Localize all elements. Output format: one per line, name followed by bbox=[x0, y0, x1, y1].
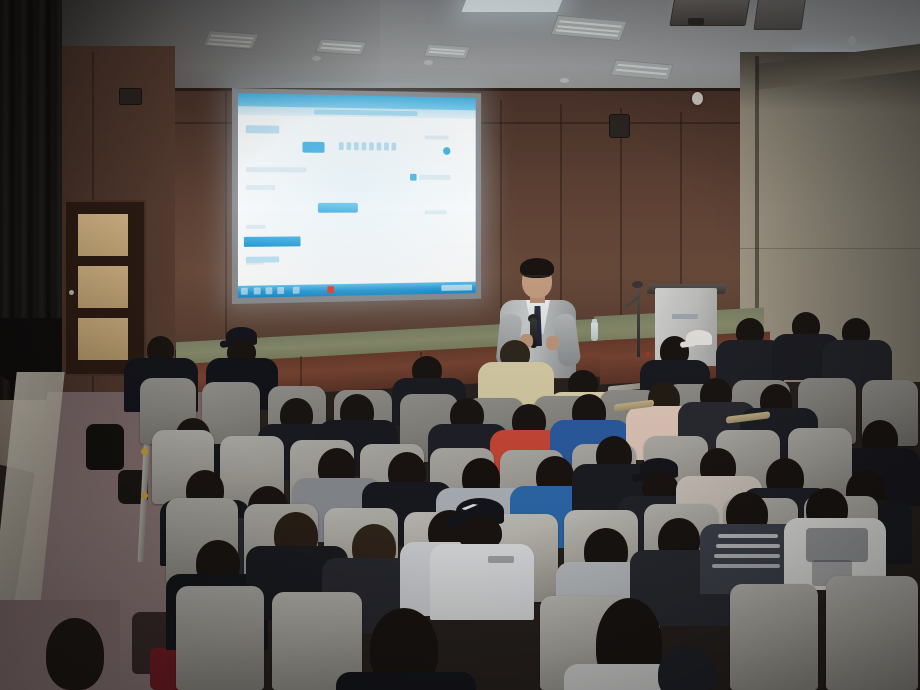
app-content-area bbox=[238, 115, 476, 286]
audience-member-torso bbox=[430, 544, 534, 620]
water-bottle-cap bbox=[592, 319, 597, 323]
start-button-icon[interactable] bbox=[241, 288, 248, 295]
shirt-graphic-print bbox=[488, 556, 514, 563]
striped-shirt-stripe bbox=[712, 564, 780, 568]
auditorium-seat[interactable] bbox=[826, 576, 918, 690]
taskbar-app-icon[interactable] bbox=[254, 287, 261, 294]
striped-shirt-stripe bbox=[716, 544, 780, 548]
audience-member bbox=[658, 646, 716, 690]
door-glass-panel bbox=[78, 214, 128, 256]
door-glass-panel bbox=[78, 318, 128, 360]
stage-panel-seam bbox=[300, 356, 302, 386]
auditorium-seat[interactable] bbox=[730, 584, 818, 690]
handrail-knob bbox=[141, 492, 148, 499]
projection-screen bbox=[232, 88, 481, 304]
wall-seam bbox=[225, 92, 227, 350]
wall-seam bbox=[740, 248, 920, 249]
side-label bbox=[425, 135, 449, 139]
microphone-head bbox=[632, 281, 643, 288]
presenter-right-hand bbox=[546, 336, 559, 350]
projection-screen-surface bbox=[238, 93, 476, 298]
side-exit-door[interactable] bbox=[64, 200, 146, 376]
primary-action-button[interactable] bbox=[302, 142, 324, 153]
system-clock bbox=[441, 285, 472, 291]
curtain-hem bbox=[0, 318, 62, 380]
wall-mounted-speaker bbox=[609, 114, 630, 138]
audience-member bbox=[46, 618, 104, 690]
water-bottle[interactable] bbox=[591, 322, 598, 341]
form-label bbox=[246, 185, 275, 190]
eyeglasses bbox=[524, 275, 550, 283]
lecture-hall-photo: Lecture hall presentation A speaker in a… bbox=[0, 0, 920, 690]
form-label bbox=[246, 167, 306, 172]
ceiling-projector bbox=[669, 0, 750, 26]
ceiling-projector-bracket bbox=[753, 0, 806, 30]
taskbar-app-icon[interactable] bbox=[293, 287, 300, 294]
taskbar-app-icon[interactable] bbox=[277, 287, 284, 294]
door-glass-panel bbox=[78, 266, 128, 308]
backpack-on-floor bbox=[86, 424, 124, 470]
smoke-detector bbox=[560, 78, 569, 83]
striped-shirt-stripe bbox=[714, 554, 780, 558]
auditorium-seat[interactable] bbox=[176, 586, 264, 690]
form-section-tag bbox=[246, 125, 279, 133]
taskbar-app-icon-red[interactable] bbox=[327, 286, 334, 293]
projector-lens bbox=[688, 18, 704, 25]
wall-clock bbox=[692, 92, 703, 105]
help-icon[interactable] bbox=[443, 147, 450, 155]
checkbox-label bbox=[419, 175, 450, 180]
smoke-detector bbox=[424, 60, 433, 65]
agreement-checkbox[interactable] bbox=[410, 174, 416, 181]
striped-shirt-stripe bbox=[718, 534, 778, 538]
handrail-knob bbox=[141, 448, 148, 455]
recessed-light-panel bbox=[461, 0, 564, 12]
power-indicator bbox=[646, 352, 650, 356]
wall-seam bbox=[620, 108, 622, 340]
smoke-detector bbox=[848, 36, 856, 46]
submit-button[interactable] bbox=[318, 203, 358, 213]
section-header-bar bbox=[244, 236, 301, 246]
wall-mounted-speaker bbox=[119, 88, 142, 105]
door-handle[interactable] bbox=[69, 290, 74, 295]
side-label bbox=[425, 210, 447, 214]
lectern-logo bbox=[672, 314, 698, 319]
taskbar-app-icon[interactable] bbox=[266, 287, 273, 294]
section-subitem[interactable] bbox=[246, 256, 279, 262]
audience-member-torso bbox=[336, 672, 476, 690]
shirt-graphic-print bbox=[806, 528, 868, 562]
code-digits bbox=[339, 142, 396, 150]
form-label bbox=[246, 225, 266, 229]
